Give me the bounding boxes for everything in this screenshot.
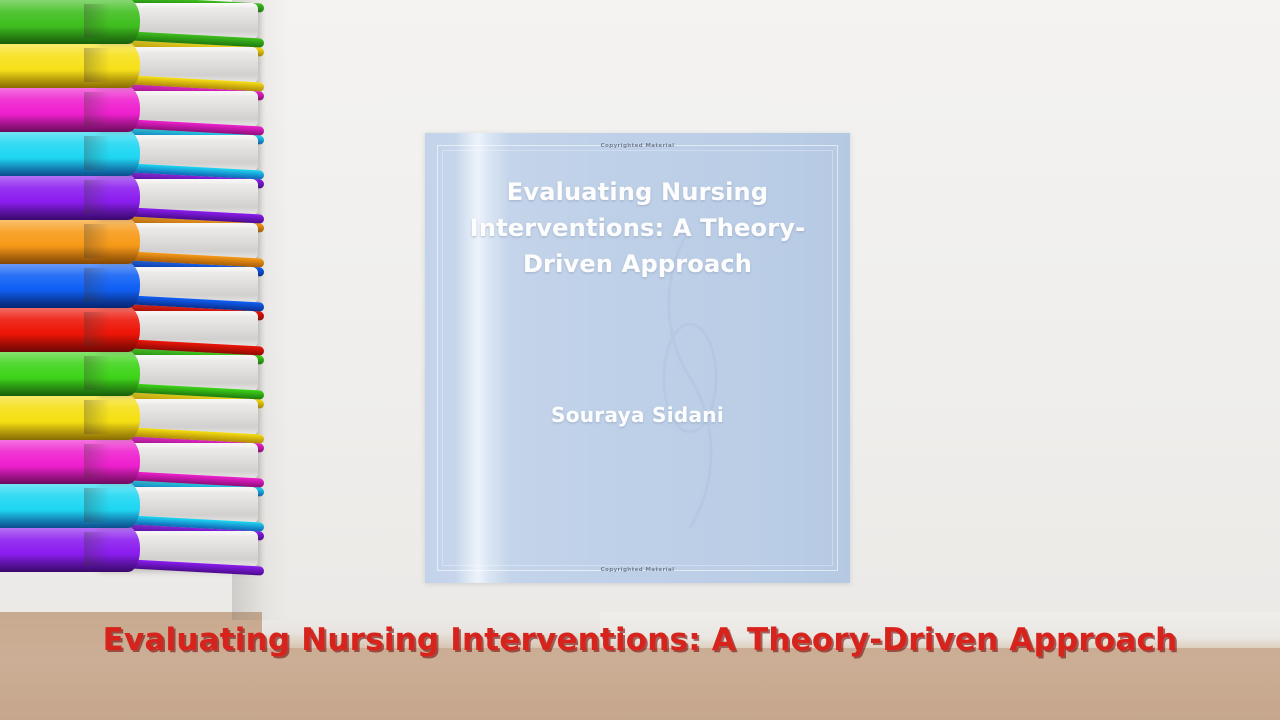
product-title-caption: Evaluating Nursing Interventions: A Theo… (40, 620, 1240, 660)
book-cyan-2 (0, 482, 266, 528)
book-magenta-1 (0, 86, 266, 132)
book-magenta-2 (0, 438, 266, 484)
book-orange-1 (0, 218, 266, 264)
book-yellow-2 (0, 394, 266, 440)
book-blue-1 (0, 262, 266, 308)
book-magenta-2-cover (0, 438, 140, 484)
book-purple-1 (0, 174, 266, 220)
book-cyan-1 (0, 130, 266, 176)
book-stack (0, 0, 300, 634)
book-red-1 (0, 306, 266, 352)
book-green-1 (0, 0, 266, 44)
cover-copyright-bottom: Copyrighted Material (425, 567, 850, 573)
book-green-1-cover (0, 0, 140, 44)
book-magenta-1-cover (0, 86, 140, 132)
book-cyan-1-cover (0, 130, 140, 176)
cover-copyright-top: Copyrighted Material (425, 143, 850, 149)
book-blue-1-cover (0, 262, 140, 308)
book-red-1-cover (0, 306, 140, 352)
book-yellow-1 (0, 42, 266, 88)
book-cover[interactable]: Copyrighted Material Evaluating Nursing … (425, 133, 850, 583)
book-cyan-2-cover (0, 482, 140, 528)
book-yellow-1-cover (0, 42, 140, 88)
book-orange-1-cover (0, 218, 140, 264)
cover-title: Evaluating Nursing Interventions: A Theo… (463, 174, 812, 282)
book-purple-2 (0, 526, 266, 572)
book-purple-1-cover (0, 174, 140, 220)
book-yellow-2-cover (0, 394, 140, 440)
book-green-2 (0, 350, 266, 396)
book-purple-2-cover (0, 526, 140, 572)
product-image-canvas: Copyrighted Material Evaluating Nursing … (0, 0, 1280, 720)
book-green-2-cover (0, 350, 140, 396)
cover-author: Souraya Sidani (463, 403, 812, 427)
